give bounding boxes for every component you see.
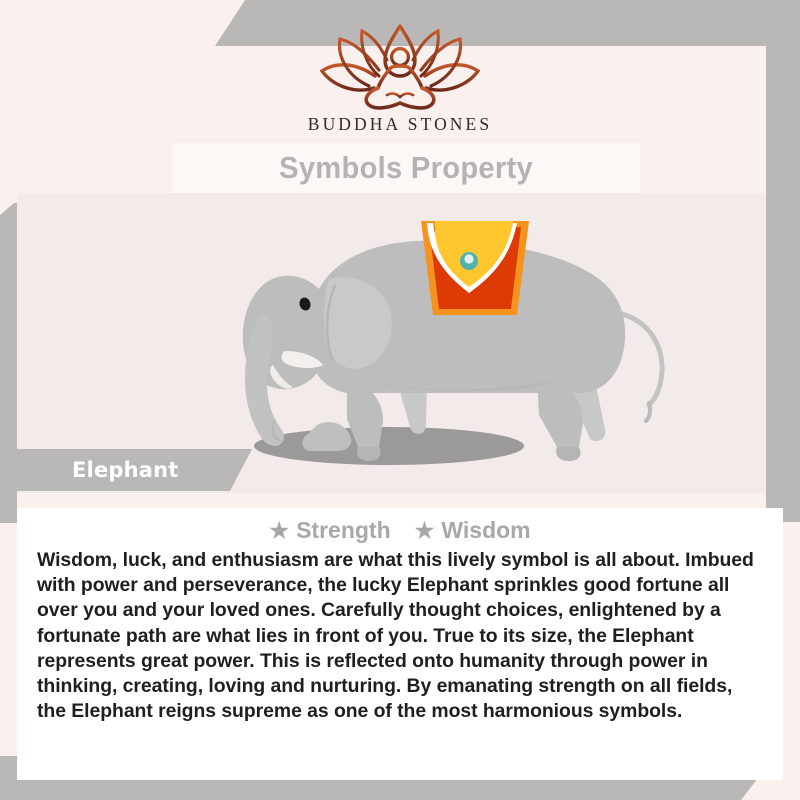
elephant-shadow: [254, 427, 524, 465]
symbol-name: Elephant: [72, 458, 179, 482]
page-title-band: Symbols Property: [172, 143, 640, 193]
symbol-description: Wisdom, luck, and enthusiasm are what th…: [37, 548, 763, 725]
trait-strength: ★ Strength: [269, 517, 390, 544]
trait-wisdom: ★ Wisdom: [415, 517, 531, 544]
walking-elephant-illustration: [17, 193, 766, 493]
trait-list: ★ Strength ★ Wisdom: [17, 517, 783, 544]
star-icon: ★: [269, 520, 289, 542]
page-title: Symbols Property: [279, 150, 533, 186]
brand-header: BUDDHA STONES: [0, 0, 800, 143]
description-card: ★ Strength ★ Wisdom Wisdom, luck, and en…: [17, 508, 783, 780]
illustration-panel: [17, 193, 766, 493]
brand-logo: BUDDHA STONES: [0, 18, 800, 135]
symbol-name-banner: Elephant: [0, 449, 252, 491]
trait-label: Wisdom: [441, 517, 530, 544]
symbol-card-page: BUDDHA STONES Symbols Property: [0, 0, 800, 800]
brand-name: BUDDHA STONES: [308, 114, 492, 135]
trait-label: Strength: [296, 517, 391, 544]
elephant-saddle: [421, 221, 529, 315]
lotus-meditation-icon: [317, 18, 483, 110]
star-icon: ★: [415, 520, 435, 542]
